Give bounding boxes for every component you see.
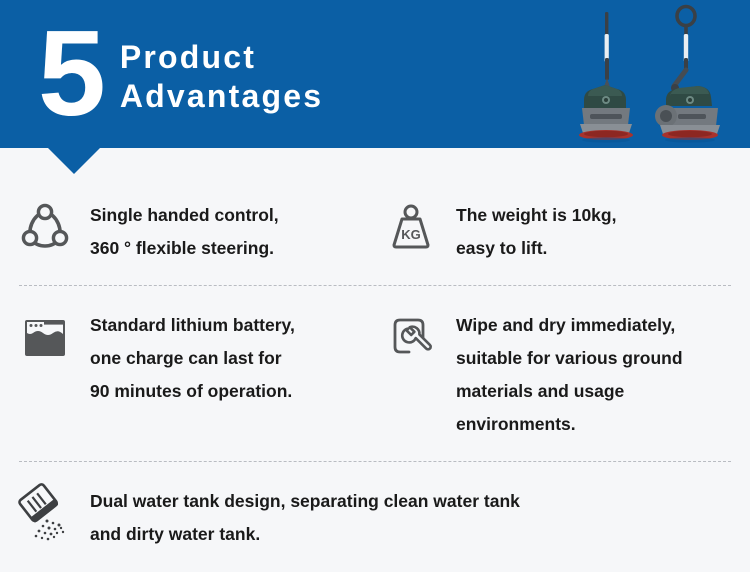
feature-line: materials and usage (456, 375, 683, 408)
wrench-square-icon (380, 306, 442, 368)
feature-line: environments. (456, 408, 683, 441)
feature-item-weight: KG The weight is 10kg, easy to lift. (372, 176, 750, 285)
feature-line: 90 minutes of operation. (90, 375, 295, 408)
feature-line: Standard lithium battery, (90, 309, 295, 342)
feature-item-wipe-and-dry: Wipe and dry immediately, suitable for v… (372, 286, 750, 461)
header-title-line-1: Product (120, 38, 323, 77)
feature-line: and dirty water tank. (90, 518, 520, 551)
header-title-line-2: Advantages (120, 77, 323, 116)
feature-row-1: Single handed control, 360 ° flexible st… (0, 176, 750, 285)
feature-text: Standard lithium battery, one charge can… (90, 306, 295, 408)
product-advantages-page: 5 Product Advantages (0, 0, 750, 572)
product-photo-svg (562, 4, 738, 146)
feature-line: 360 ° flexible steering. (90, 232, 279, 265)
feature-row-2: Standard lithium battery, one charge can… (0, 286, 750, 461)
feature-line: one charge can last for (90, 342, 295, 375)
header-title-group: 5 Product Advantages (38, 18, 323, 128)
feature-line: Dual water tank design, separating clean… (90, 485, 520, 518)
feature-item-single-handed-control: Single handed control, 360 ° flexible st… (0, 176, 372, 285)
rotation-three-circles-icon (14, 196, 76, 258)
feature-item-lithium-battery: Standard lithium battery, one charge can… (0, 286, 372, 461)
feature-item-dual-water-tank: Dual water tank design, separating clean… (0, 462, 750, 571)
feature-line: Single handed control, (90, 199, 279, 232)
feature-text: Dual water tank design, separating clean… (90, 482, 520, 551)
feature-line: easy to lift. (456, 232, 616, 265)
feature-text: Single handed control, 360 ° flexible st… (90, 196, 279, 265)
kg-icon-label: KG (401, 227, 421, 242)
advantage-count-number: 5 (38, 18, 104, 128)
kg-weight-icon: KG (380, 196, 442, 258)
product-photo (562, 4, 738, 146)
triangle-down-icon (48, 148, 100, 174)
brush-droplets-icon (14, 482, 76, 544)
feature-line: Wipe and dry immediately, (456, 309, 683, 342)
water-tank-level-icon (14, 306, 76, 368)
feature-line: The weight is 10kg, (456, 199, 616, 232)
header-title-lines: Product Advantages (120, 38, 323, 116)
header-banner: 5 Product Advantages (0, 0, 750, 148)
feature-text: Wipe and dry immediately, suitable for v… (456, 306, 683, 441)
feature-text: The weight is 10kg, easy to lift. (456, 196, 616, 265)
feature-list: Single handed control, 360 ° flexible st… (0, 176, 750, 571)
feature-row-3: Dual water tank design, separating clean… (0, 462, 750, 571)
feature-line: suitable for various ground (456, 342, 683, 375)
